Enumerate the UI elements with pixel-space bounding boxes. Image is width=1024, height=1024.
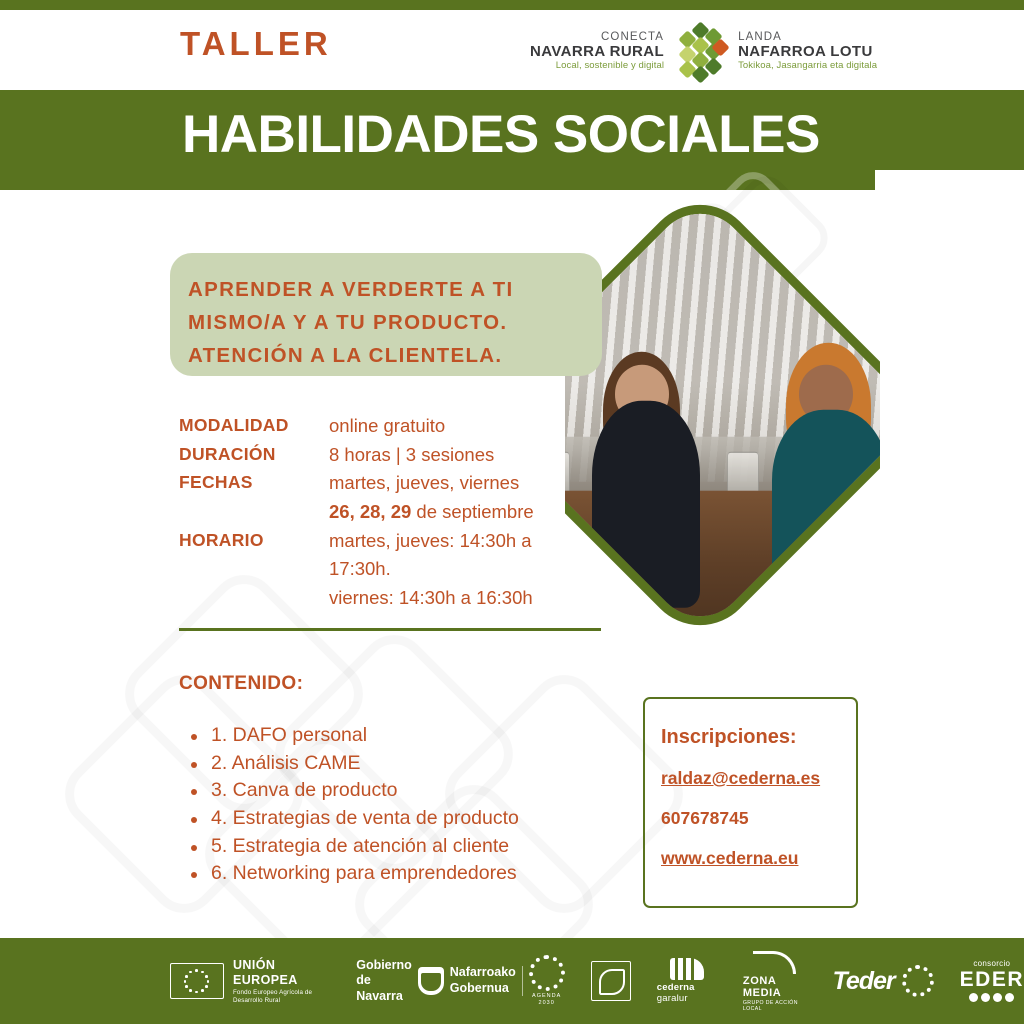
detail-row-horario-viernes: viernes: 14:30h a 16:30h bbox=[179, 584, 599, 613]
brand-logo: CONECTA NAVARRA RURAL Local, sostenible … bbox=[530, 24, 877, 78]
photo-person-a bbox=[592, 401, 700, 608]
cederna-label-rest: garalur bbox=[657, 993, 688, 1004]
title-band-right bbox=[875, 90, 1024, 170]
detail-row-horario: HORARIO martes, jueves: 14:30h a 17:30h. bbox=[179, 527, 599, 584]
zona-media-arc-icon bbox=[753, 951, 796, 974]
list-item: 6. Networking para emprendedores bbox=[179, 860, 609, 888]
registration-phone[interactable]: 607678745 bbox=[661, 808, 856, 829]
details-block: MODALIDAD online gratuito DURACIÓN 8 hor… bbox=[179, 412, 599, 613]
eu-subtitle: Fondo Europeo Agrícola de Desarrollo Rur… bbox=[233, 989, 330, 1005]
list-item: 4. Estrategias de venta de producto bbox=[179, 805, 609, 833]
footer-bar: UNIÓN EUROPEA Fondo Europeo Agrícola de … bbox=[0, 938, 1024, 1024]
brand-right-block: LANDA NAFARROA LOTU Tokikoa, Jasangarria… bbox=[738, 31, 877, 71]
teder-label: Teder bbox=[832, 967, 894, 996]
subtitle-line-2: MISMO/A Y A TU PRODUCTO. bbox=[188, 306, 580, 339]
detail-label: MODALIDAD bbox=[179, 412, 329, 439]
navarra-shield-icon bbox=[418, 967, 444, 995]
detail-row-fechas: FECHAS martes, jueves, viernes bbox=[179, 469, 599, 498]
gobierno-es-line1: Gobierno bbox=[356, 958, 412, 974]
detail-label: FECHAS bbox=[179, 469, 329, 496]
hero-photo-frame bbox=[565, 182, 880, 649]
agenda-2030-ring-icon bbox=[529, 955, 565, 991]
registration-title: Inscripciones: bbox=[661, 726, 856, 749]
subtitle-line-1: APRENDER A VERDERTE A TI bbox=[188, 273, 580, 306]
photo-person-b bbox=[772, 410, 880, 617]
brand-right-tagline: Tokikoa, Jasangarria eta digitala bbox=[738, 61, 877, 72]
gobierno-eu-line2: Gobernua bbox=[450, 981, 516, 997]
section-divider bbox=[179, 628, 601, 631]
photo-basket bbox=[799, 590, 876, 649]
registration-box: Inscripciones: raldaz@cederna.es 6076787… bbox=[643, 697, 858, 908]
detail-value: 8 horas | 3 sesiones bbox=[329, 441, 494, 470]
detail-row-fechas-dates: 26, 28, 29 de septiembre bbox=[179, 498, 599, 527]
footer-logos: UNIÓN EUROPEA Fondo Europeo Agrícola de … bbox=[0, 951, 1024, 1012]
cederna-mark-icon bbox=[670, 958, 704, 980]
hero-photo-image bbox=[565, 203, 880, 649]
detail-dates-rest: de septiembre bbox=[411, 501, 533, 522]
detail-label: HORARIO bbox=[179, 527, 329, 554]
brand-left-big: NAVARRA RURAL bbox=[530, 44, 664, 61]
top-accent-strip bbox=[0, 0, 1024, 10]
footer-logo-agenda2030: AGENDA 2030 bbox=[529, 955, 565, 1006]
brand-left-tagline: Local, sostenible y digital bbox=[556, 61, 664, 72]
detail-value-dates: 26, 28, 29 de septiembre bbox=[329, 498, 534, 527]
leader-leaf-icon bbox=[591, 961, 631, 1001]
subtitle-box: APRENDER A VERDERTE A TI MISMO/A Y A TU … bbox=[170, 253, 602, 376]
poster-canvas: TALLER CONECTA NAVARRA RURAL Local, sost… bbox=[0, 0, 1024, 1024]
eder-big-label: EDER bbox=[960, 969, 1024, 991]
footer-logo-eder: consorcio EDER bbox=[960, 960, 1024, 1001]
list-item: 5. Estrategia de atención al cliente bbox=[179, 833, 609, 861]
detail-label: DURACIÓN bbox=[179, 441, 329, 468]
content-list: 1. DAFO personal 2. Análisis CAME 3. Can… bbox=[179, 722, 609, 888]
footer-logo-gobierno: Gobierno de Navarra Nafarroako Gobernua … bbox=[356, 955, 565, 1006]
brand-right-small: LANDA bbox=[738, 31, 782, 44]
registration-email[interactable]: raldaz@cederna.es bbox=[661, 768, 856, 789]
detail-value: online gratuito bbox=[329, 412, 445, 441]
footer-logo-cederna: cederna garalur bbox=[657, 958, 717, 1004]
list-item: 1. DAFO personal bbox=[179, 722, 609, 750]
conecta-diamonds-icon bbox=[674, 24, 728, 78]
cederna-label: cederna garalur bbox=[657, 982, 717, 1004]
list-item: 3. Canva de producto bbox=[179, 777, 609, 805]
detail-value: martes, jueves, viernes bbox=[329, 469, 519, 498]
divider-line bbox=[522, 966, 523, 996]
brand-left-small: CONECTA bbox=[601, 31, 664, 44]
detail-value: viernes: 14:30h a 16:30h bbox=[329, 584, 533, 613]
detail-dates-bold: 26, 28, 29 bbox=[329, 501, 411, 522]
gobierno-eu: Nafarroako Gobernua bbox=[450, 965, 516, 996]
hero-photo bbox=[565, 150, 880, 675]
detail-value: martes, jueves: 14:30h a 17:30h. bbox=[329, 527, 569, 584]
gobierno-eu-line1: Nafarroako bbox=[450, 965, 516, 981]
detail-row-modalidad: MODALIDAD online gratuito bbox=[179, 412, 599, 441]
eder-dots-icon bbox=[969, 993, 1014, 1002]
teder-ring-icon bbox=[902, 965, 934, 997]
cederna-label-bold: cederna bbox=[657, 982, 695, 993]
footer-logo-zonamedia: ZONA MEDIA GRUPO DE ACCIÓN LOCAL bbox=[743, 951, 807, 1012]
content-heading: CONTENIDO: bbox=[179, 673, 303, 695]
zona-media-title: ZONA MEDIA bbox=[743, 975, 807, 999]
subtitle-line-3: ATENCIÓN A LA CLIENTELA. bbox=[188, 339, 580, 372]
list-item: 2. Análisis CAME bbox=[179, 750, 609, 778]
brand-right-big: NAFARROA LOTU bbox=[738, 44, 873, 61]
brand-left-block: CONECTA NAVARRA RURAL Local, sostenible … bbox=[530, 31, 664, 71]
agenda-2030-label: AGENDA 2030 bbox=[529, 993, 565, 1006]
detail-row-duracion: DURACIÓN 8 horas | 3 sesiones bbox=[179, 441, 599, 470]
zona-media-subtitle: GRUPO DE ACCIÓN LOCAL bbox=[743, 1000, 807, 1012]
footer-logo-teder: Teder bbox=[832, 965, 933, 997]
eu-flag-icon bbox=[170, 963, 224, 999]
footer-logo-eu: UNIÓN EUROPEA Fondo Europeo Agrícola de … bbox=[170, 958, 330, 1005]
gobierno-es: Gobierno de Navarra bbox=[356, 958, 412, 1005]
eu-title: UNIÓN EUROPEA bbox=[233, 958, 330, 989]
registration-website[interactable]: www.cederna.eu bbox=[661, 848, 856, 869]
kicker-taller: TALLER bbox=[180, 27, 332, 60]
eu-text: UNIÓN EUROPEA Fondo Europeo Agrícola de … bbox=[233, 958, 330, 1005]
gobierno-es-line2: de Navarra bbox=[356, 973, 412, 1004]
